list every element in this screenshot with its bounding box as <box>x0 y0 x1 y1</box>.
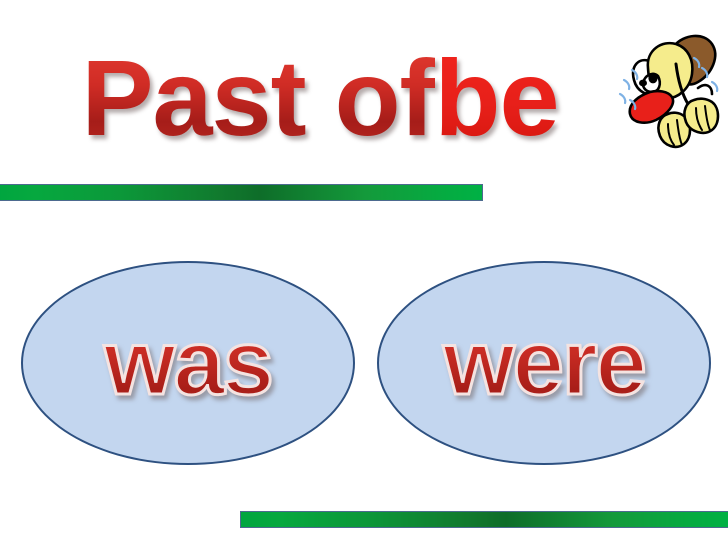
title-block: Past of be Past of be <box>0 34 640 162</box>
ellipse-were[interactable]: were were <box>377 261 711 465</box>
title-outline-layer: Past of be <box>81 44 587 152</box>
ellipse-were-text: were <box>443 312 645 414</box>
ellipse-was[interactable]: was was <box>21 261 355 465</box>
odie-dog-icon <box>612 28 728 163</box>
slide-canvas: Past of be Past of be <box>0 0 728 546</box>
page-title: Past of be Past of be <box>81 44 558 152</box>
bottom-green-bar <box>240 511 728 528</box>
ellipse-was-text: was <box>104 312 272 414</box>
title-segment-primary: Past of <box>81 44 434 152</box>
ellipse-were-label: were were <box>443 317 645 409</box>
ellipse-was-label: was was <box>104 317 272 409</box>
top-green-bar <box>0 184 483 201</box>
title-segment-accent: be <box>435 44 559 152</box>
